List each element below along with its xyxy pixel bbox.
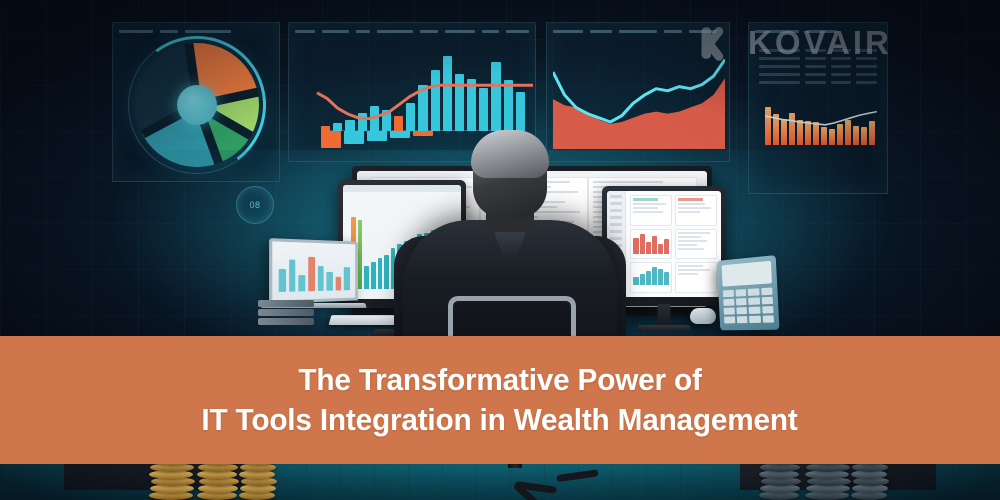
bi-card-summary [630,195,672,226]
bi-card-red-bars [630,229,672,260]
title-line-2: IT Tools Integration in Wealth Managemen… [202,400,798,440]
bars-y-axis [299,49,315,135]
hair [471,130,549,178]
bi-main-area [626,191,721,297]
books-stack [258,300,314,326]
kovair-k-mark-icon [698,22,740,64]
laptop-screen [269,238,358,304]
pie-chart [135,43,259,167]
bi-card-notes [675,262,717,293]
bar [371,262,376,289]
kovair-wordmark: KOVAIR [748,24,892,62]
kovair-logo: KOVAIR [698,22,892,64]
bar [384,255,389,289]
bar [378,258,383,289]
panel-header-pie [119,28,273,35]
bi-card-teal-area [630,262,672,293]
panel-header-bars [295,28,529,35]
title-banner: The Transformative Power of IT Tools Int… [0,336,1000,464]
laptop-chart [279,254,350,292]
pie-center-hub [177,85,217,125]
mouse [690,308,716,324]
office-chair-base [470,462,560,492]
right-monitor-stand [658,304,671,326]
bi-card-kpi [675,195,717,226]
calculator-display [722,261,772,287]
right-monitor-base [638,325,690,331]
trend-line-overlay [315,41,535,137]
report-moving-average-line [765,101,877,145]
title-line-1: The Transformative Power of [298,360,701,400]
bi-card-table [675,229,717,260]
kovair-blog-banner: 08 KOVAIR [0,0,1000,500]
calculator [717,255,780,330]
calculator-keypad [723,287,774,323]
